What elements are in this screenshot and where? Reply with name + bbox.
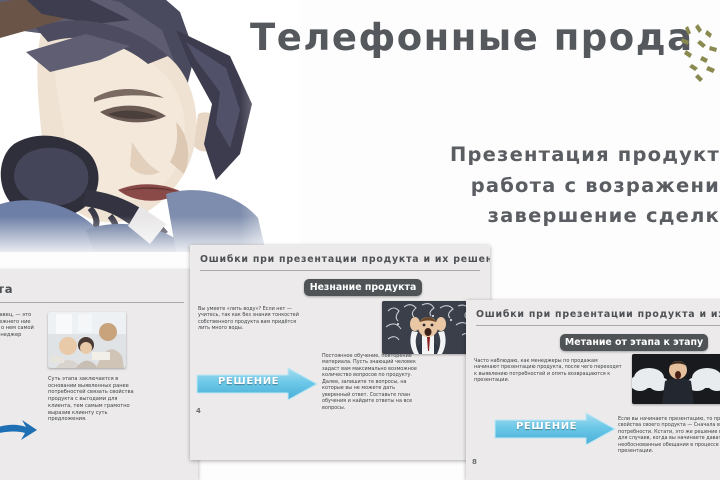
card-middle-header: Ошибки при презентации продукта и их реш… [200,254,490,265]
card-left-header: ия продукта [0,282,13,296]
sparkle-icon [674,24,720,86]
blue-arrow-icon [0,418,38,446]
card-left-photo [48,312,126,368]
card-middle-problem-text: Вы умеете «лить воду»? Если нет — учитес… [198,306,308,332]
card-middle-solution-arrow: РЕШЕНИЕ [196,367,318,401]
card-middle-slide-number: 4 [196,407,201,415]
card-right-photo [632,354,720,404]
subtitle-line-3: завершение сделк [300,201,720,231]
slide-card-right[interactable]: Ошибки при презентации продукта и их реш… [466,300,720,480]
presentation-preview-canvas: Телефонные прода Презентац [0,0,720,480]
card-right-solution-label: РЕШЕНИЕ [516,421,577,432]
card-middle-divider [200,270,480,271]
card-right-header: Ошибки при презентации продукта и их реш… [476,309,720,320]
card-left-body-2: Суть этапа заключается в основании выявл… [48,376,134,423]
card-right-divider [476,325,720,326]
card-middle-solution-text: Постоянное обучение, повторение материал… [322,353,424,411]
card-right-topic-pill[interactable]: Метание от этапа к этапу [560,334,708,351]
card-right-solution-text: Если вы начинаете презентацию, то презен… [618,416,720,455]
subtitle-line-1: Презентация продукт [300,140,720,170]
subtitle-block: Презентация продукт работа с возражени з… [300,140,720,232]
card-right-slide-number: 8 [472,458,477,466]
subtitle-line-2: работа с возражени [300,171,720,201]
card-right-problem-text: Часто наблюдаю, как менеджеры по продажа… [474,358,622,384]
card-left-divider [0,302,184,303]
card-middle-topic-pill[interactable]: Незнание продукта [304,279,422,296]
title-block: Телефонные прода [250,18,720,59]
card-middle-solution-label: РЕШЕНИЕ [218,376,279,387]
card-middle-photo [382,301,474,354]
slide-card-left[interactable]: ия продукта продаж, при котором в продав… [0,270,198,480]
card-right-solution-arrow: РЕШЕНИЕ [494,412,616,446]
page-title: Телефонные прода [250,18,720,59]
slide-card-middle[interactable]: Ошибки при презентации продукта и их реш… [190,245,490,460]
card-left-body-1: продаж, при котором в продавец, — это эт… [0,312,40,346]
